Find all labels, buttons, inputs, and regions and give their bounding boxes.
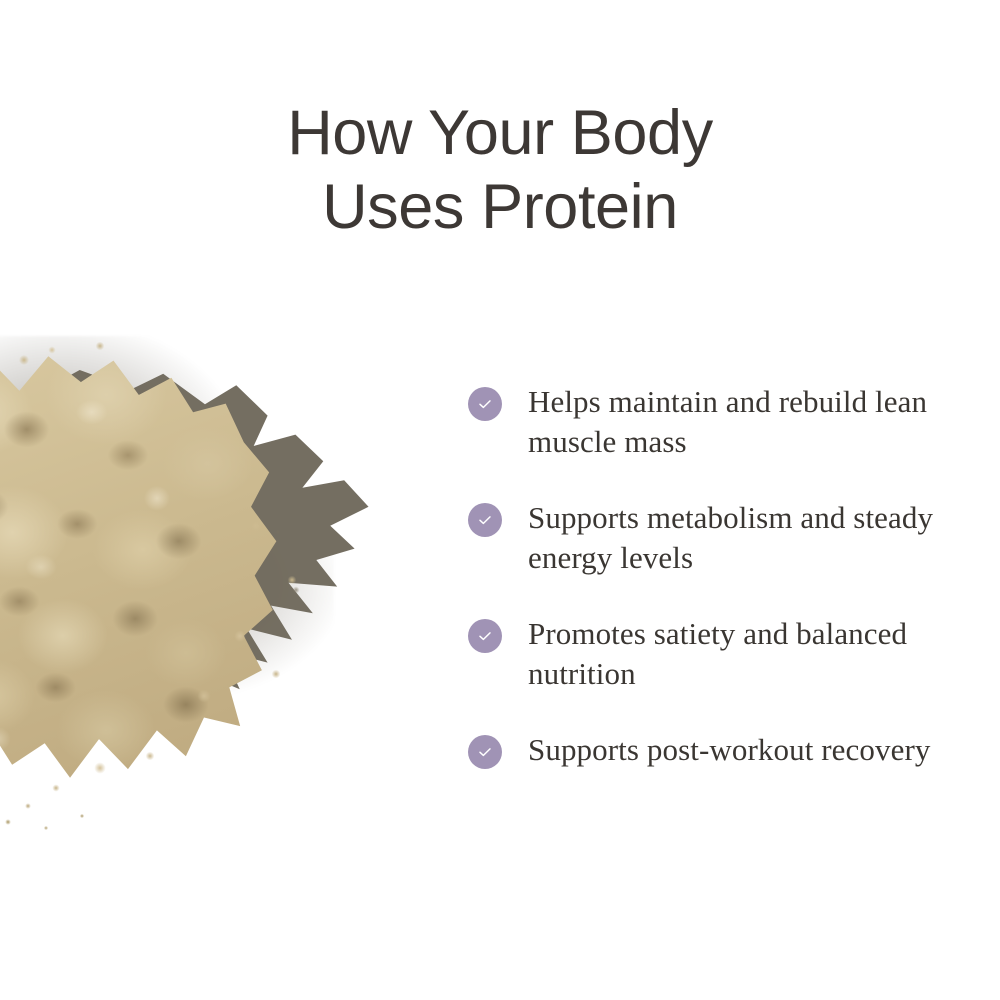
list-item: Supports metabolism and steady energy le… — [468, 498, 968, 578]
benefit-label: Supports post-workout recovery — [528, 730, 968, 770]
list-item: Helps maintain and rebuild lean muscle m… — [468, 382, 968, 462]
benefit-label: Helps maintain and rebuild lean muscle m… — [528, 382, 968, 462]
benefit-label: Promotes satiety and balanced nutrition — [528, 614, 968, 694]
protein-powder-image — [0, 336, 464, 856]
benefits-list: Helps maintain and rebuild lean muscle m… — [468, 382, 968, 770]
page-title-line-2: Uses Protein — [0, 170, 1000, 244]
protein-benefits-infographic: How Your Body Uses Protein Helps maintai… — [0, 0, 1000, 1000]
list-item: Supports post-workout recovery — [468, 730, 968, 770]
check-circle-icon — [468, 619, 502, 653]
check-circle-icon — [468, 387, 502, 421]
page-title-line-1: How Your Body — [0, 96, 1000, 170]
powder-crumbs — [0, 336, 464, 856]
check-circle-icon — [468, 735, 502, 769]
list-item: Promotes satiety and balanced nutrition — [468, 614, 968, 694]
page-title: How Your Body Uses Protein — [0, 96, 1000, 244]
benefit-label: Supports metabolism and steady energy le… — [528, 498, 968, 578]
check-circle-icon — [468, 503, 502, 537]
